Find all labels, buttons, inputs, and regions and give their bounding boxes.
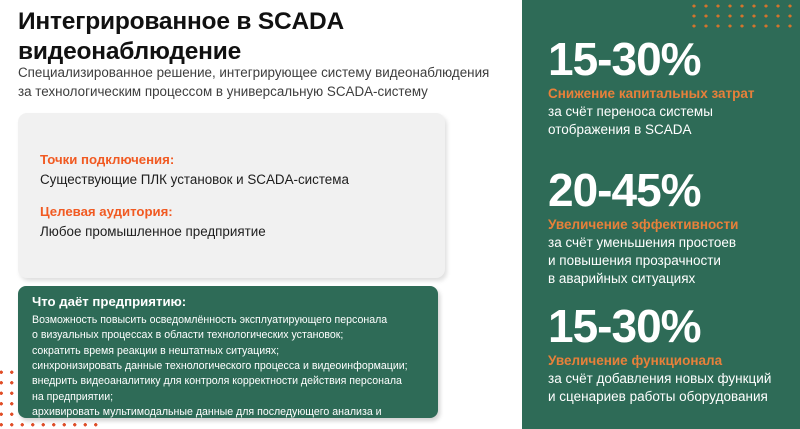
benefits-line: на предприятии; bbox=[32, 390, 432, 405]
stat-value: 20-45% bbox=[548, 167, 798, 213]
stat-value: 15-30% bbox=[548, 36, 798, 82]
page-subtitle-line-1: Специализированное решение, интегрирующе… bbox=[18, 63, 508, 82]
stat-description-line: и повышения прозрачности bbox=[548, 252, 798, 270]
stat-accent-label: Снижение капитальных затрат bbox=[548, 85, 798, 103]
stat-accent-label: Увеличение эффективности bbox=[548, 216, 798, 234]
stat-block-capex: 15-30% Снижение капитальных затрат за сч… bbox=[548, 36, 798, 139]
benefits-line: сократить время реакции в нештатных ситу… bbox=[32, 344, 432, 359]
benefits-line: внедрить видеоаналитику для контроля кор… bbox=[32, 374, 432, 389]
benefits-line: синхронизировать данные технологического… bbox=[32, 359, 432, 374]
benefits-line: о визуальных процессах в области техноло… bbox=[32, 328, 432, 343]
stat-description-line: отображения в SCADA bbox=[548, 121, 798, 139]
stat-description-line: и сценариев работы оборудования bbox=[548, 388, 798, 406]
stat-block-functionality: 15-30% Увеличение функционала за счёт до… bbox=[548, 303, 798, 406]
stat-accent-label: Увеличение функционала bbox=[548, 352, 798, 370]
page-subtitle-line-2: за технологическим процессом в универсал… bbox=[18, 82, 508, 101]
panel-dot-grid-icon bbox=[688, 0, 800, 31]
info-block-heading: Точки подключения: bbox=[40, 151, 349, 169]
page-subtitle: Специализированное решение, интегрирующе… bbox=[18, 63, 508, 102]
stat-description: за счёт добавления новых функций и сцена… bbox=[548, 370, 798, 406]
benefits-card-heading: Что даёт предприятию: bbox=[32, 294, 186, 309]
page-title: Интегрированное в SCADA видеонаблюдение bbox=[18, 7, 498, 67]
stat-description-line: за счёт добавления новых функций bbox=[548, 370, 798, 388]
slide-root: Интегрированное в SCADA видеонаблюдение … bbox=[0, 0, 800, 429]
benefits-card: Что даёт предприятию: Возможность повыси… bbox=[18, 286, 438, 418]
stat-description: за счёт уменьшения простоев и повышения … bbox=[548, 234, 798, 288]
benefits-card-body: Возможность повысить осведомлённость экс… bbox=[32, 313, 432, 418]
info-block-target-audience: Целевая аудитория: Любое промышленное пр… bbox=[40, 203, 266, 242]
stat-value: 15-30% bbox=[548, 303, 798, 349]
stat-description-line: за счёт переноса системы bbox=[548, 103, 798, 121]
benefits-line: Возможность повысить осведомлённость экс… bbox=[32, 313, 432, 328]
info-block-body: Существующие ПЛК установок и SCADA-систе… bbox=[40, 171, 349, 190]
benefits-line: архивировать мультимодальные данные для … bbox=[32, 405, 432, 418]
statistics-panel: 15-30% Снижение капитальных затрат за сч… bbox=[522, 0, 800, 429]
stat-description: за счёт переноса системы отображения в S… bbox=[548, 103, 798, 139]
stat-block-efficiency: 20-45% Увеличение эффективности за счёт … bbox=[548, 167, 798, 288]
stat-description-line: в аварийных ситуациях bbox=[548, 270, 798, 288]
info-card: Точки подключения: Существующие ПЛК уста… bbox=[18, 113, 445, 278]
info-block-connection-points: Точки подключения: Существующие ПЛК уста… bbox=[40, 151, 349, 190]
stat-description-line: за счёт уменьшения простоев bbox=[548, 234, 798, 252]
info-block-heading: Целевая аудитория: bbox=[40, 203, 266, 221]
info-block-body: Любое промышленное предприятие bbox=[40, 223, 266, 242]
page-title-line-1: Интегрированное в SCADA bbox=[18, 7, 498, 37]
